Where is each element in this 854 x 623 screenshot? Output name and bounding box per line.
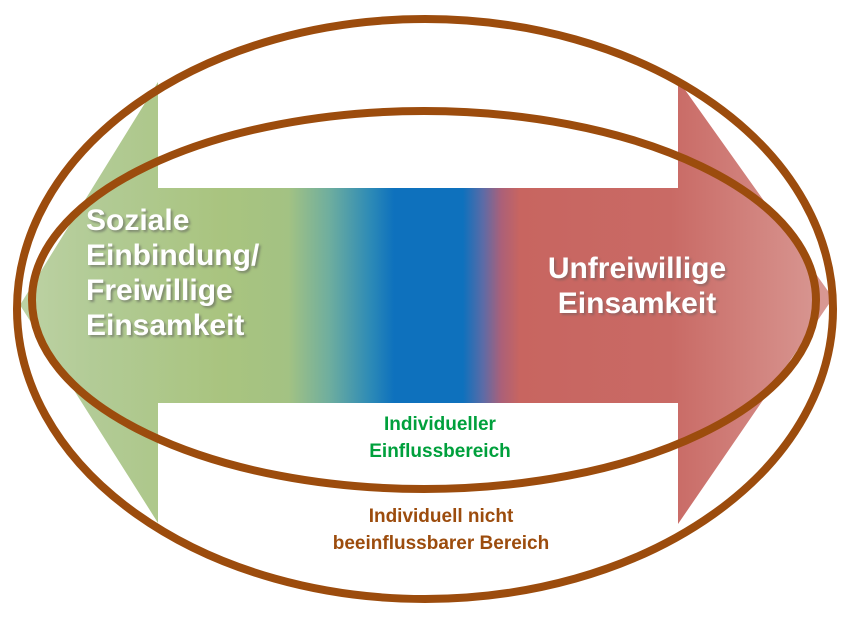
double-headed-arrow (20, 80, 833, 524)
diagram-graphics (0, 0, 854, 623)
diagram-canvas: Soziale Einbindung/ Freiwillige Einsamke… (0, 0, 854, 623)
arrow-shape (20, 80, 833, 524)
